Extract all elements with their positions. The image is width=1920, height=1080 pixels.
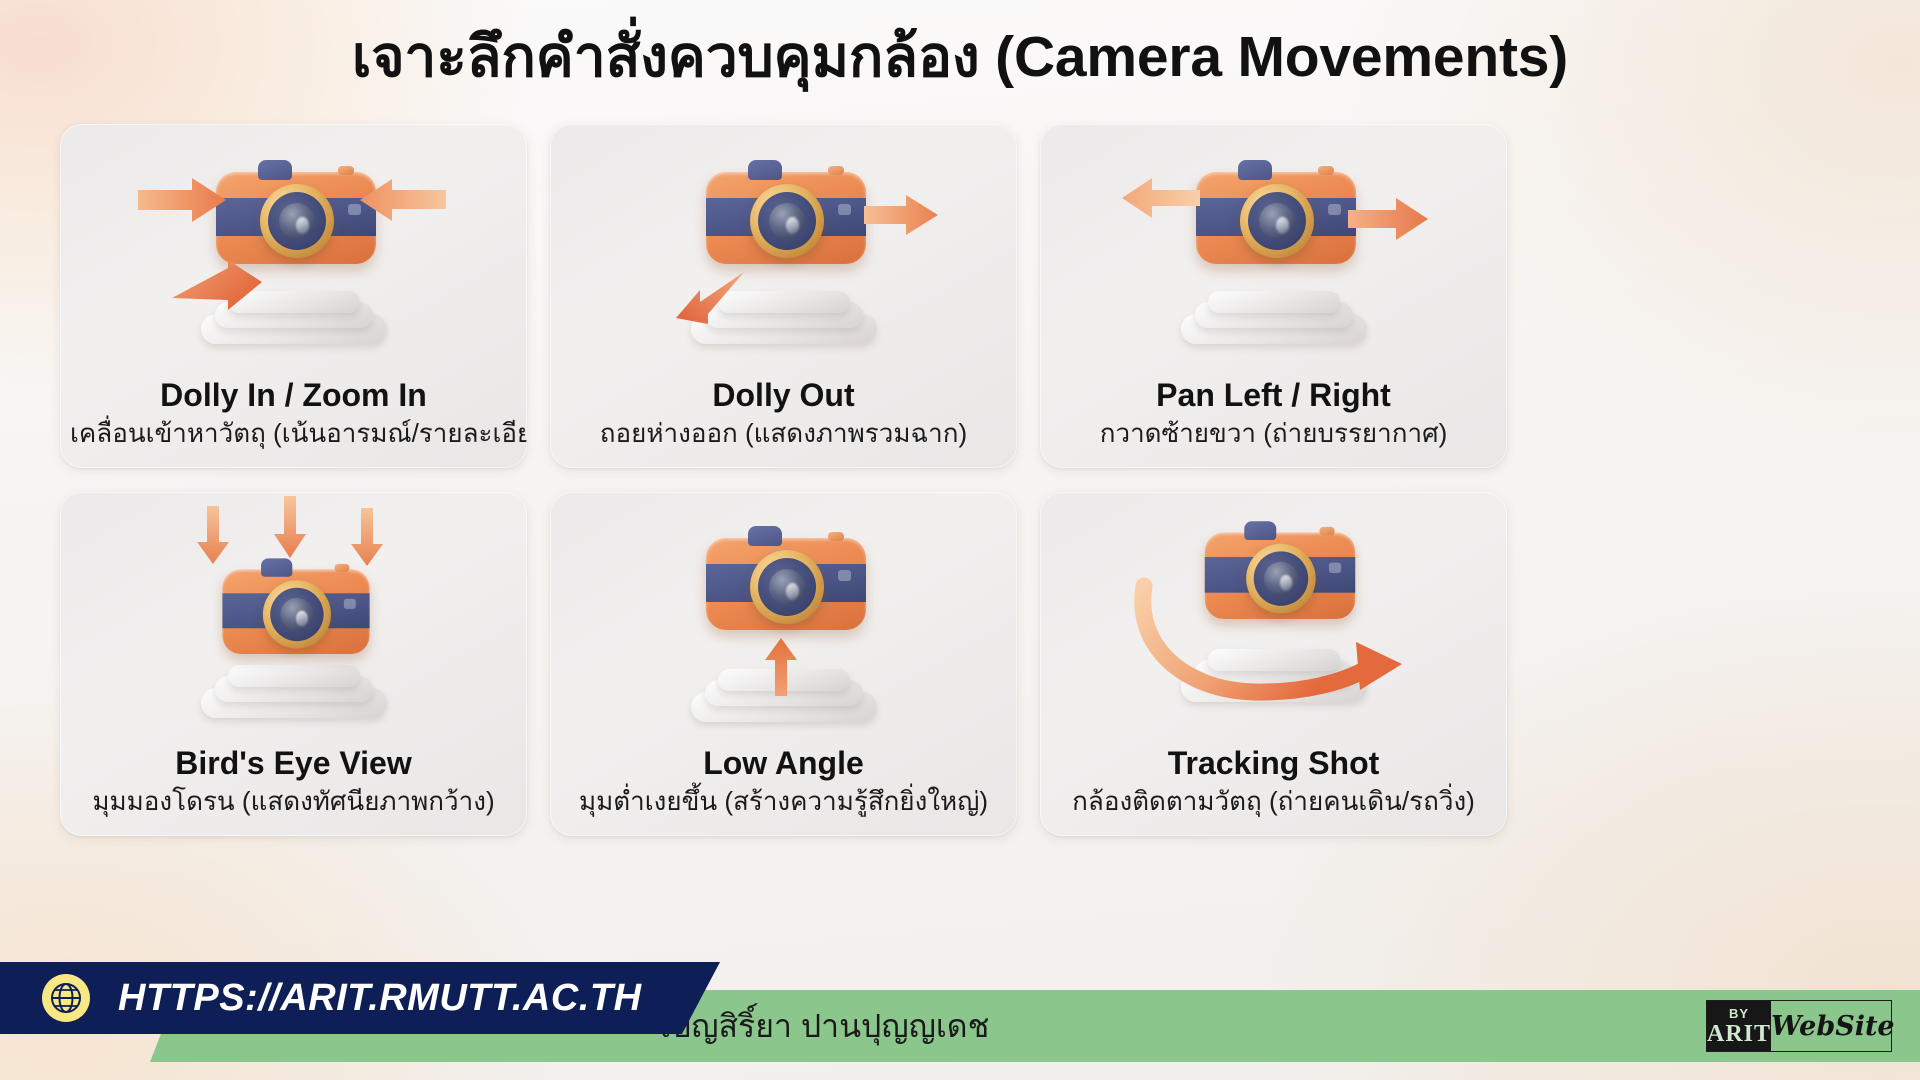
footer-bar: เบญสิริ์ยา ปานปุญญเดช HTTPS://ARIT.RMUTT… — [0, 962, 1920, 1080]
camera-with-left-right-arrows-illustration — [1040, 124, 1507, 356]
card-dolly-in[interactable]: Dolly In / Zoom In เคลื่อนเข้าหาวัตถุ (เ… — [60, 124, 527, 468]
card-text-block: Dolly In / Zoom In เคลื่อนเข้าหาวัตถุ (เ… — [70, 377, 517, 450]
camera-movement-grid: Dolly In / Zoom In เคลื่อนเข้าหาวัตถุ (เ… — [60, 124, 1520, 964]
card-text-block: Tracking Shot กล้องติดตามวัตถุ (ถ่ายคนเด… — [1050, 745, 1497, 818]
arrow-down-center-icon — [272, 494, 308, 560]
card-subtitle: มุมมองโดรน (แสดงทัศนียภาพกว้าง) — [70, 786, 517, 818]
logo-arit-block: BY ARIT — [1707, 1001, 1771, 1051]
title-container: เจาะลึกคำสั่งควบคุมกล้อง (Camera Movemen… — [0, 26, 1920, 90]
arrow-inward-left-icon — [136, 174, 228, 226]
camera-with-upward-arrow-illustration — [550, 492, 1017, 724]
camera-with-downward-arrows-illustration — [60, 492, 527, 724]
card-text-block: Pan Left / Right กวาดซ้ายขวา (ถ่ายบรรยาก… — [1050, 377, 1497, 450]
slide-canvas: เจาะลึกคำสั่งควบคุมกล้อง (Camera Movemen… — [0, 0, 1920, 1080]
camera-with-outward-arrows-illustration — [550, 124, 1017, 356]
camera-body — [706, 524, 866, 636]
card-title: Bird's Eye View — [70, 745, 517, 783]
arrow-pan-left-icon — [1120, 174, 1202, 222]
page-title: เจาะลึกคำสั่งควบคุมกล้อง (Camera Movemen… — [0, 26, 1920, 90]
pedestal — [1181, 292, 1367, 344]
website-navy-band[interactable]: HTTPS://ARIT.RMUTT.AC.TH — [0, 962, 720, 1034]
arrow-down-right-icon — [350, 506, 384, 568]
card-subtitle: กวาดซ้ายขวา (ถ่ายบรรยากาศ) — [1050, 418, 1497, 450]
arrow-inward-right-icon — [358, 176, 448, 224]
card-subtitle: เคลื่อนเข้าหาวัตถุ (เน้นอารมณ์/รายละเอีย… — [70, 418, 517, 450]
card-text-block: Bird's Eye View มุมมองโดรน (แสดงทัศนียภา… — [70, 745, 517, 818]
camera-with-inward-arrows-illustration — [60, 124, 527, 356]
card-subtitle: กล้องติดตามวัตถุ (ถ่ายคนเดิน/รถวิ่ง) — [1050, 786, 1497, 818]
card-subtitle: ถอยห่างออก (แสดงภาพรวมฉาก) — [560, 418, 1007, 450]
author-name: เบญสิริ์ยา ปานปุญญเดช — [660, 990, 989, 1062]
card-title: Pan Left / Right — [1050, 377, 1497, 415]
card-tracking-shot[interactable]: Tracking Shot กล้องติดตามวัตถุ (ถ่ายคนเด… — [1040, 492, 1507, 836]
arrow-down-left-icon — [196, 504, 230, 566]
arrow-curved-tracking-icon — [1130, 564, 1420, 714]
globe-icon — [42, 974, 90, 1022]
camera-body — [222, 556, 369, 659]
card-title: Tracking Shot — [1050, 745, 1497, 783]
card-low-angle[interactable]: Low Angle มุมต่ำเงยขึ้น (สร้างความรู้สึก… — [550, 492, 1017, 836]
card-title: Dolly Out — [560, 377, 1007, 415]
arrow-outward-left-icon — [674, 266, 748, 326]
website-url[interactable]: HTTPS://ARIT.RMUTT.AC.TH — [118, 977, 642, 1020]
camera-with-curved-arrow-illustration — [1040, 492, 1507, 724]
arrow-outward-right-icon — [862, 192, 940, 238]
card-text-block: Dolly Out ถอยห่างออก (แสดงภาพรวมฉาก) — [560, 377, 1007, 450]
card-subtitle: มุมต่ำเงยขึ้น (สร้างความรู้สึกยิ่งใหญ่) — [560, 786, 1007, 818]
arrow-inward-bottom-icon — [168, 258, 264, 314]
logo-arit-text: ARIT — [1707, 1022, 1771, 1046]
arrow-up-icon — [764, 636, 798, 698]
arrow-pan-right-icon — [1346, 194, 1430, 244]
card-pan-left-right[interactable]: Pan Left / Right กวาดซ้ายขวา (ถ่ายบรรยาก… — [1040, 124, 1507, 468]
camera-body — [1196, 158, 1356, 270]
logo-website-text: WebSite — [1771, 1001, 1895, 1051]
card-birds-eye-view[interactable]: Bird's Eye View มุมมองโดรน (แสดงทัศนียภา… — [60, 492, 527, 836]
logo-by-text: BY — [1729, 1007, 1749, 1020]
card-title: Dolly In / Zoom In — [70, 377, 517, 415]
card-text-block: Low Angle มุมต่ำเงยขึ้น (สร้างความรู้สึก… — [560, 745, 1007, 818]
camera-body — [706, 158, 866, 270]
card-title: Low Angle — [560, 745, 1007, 783]
card-dolly-out[interactable]: Dolly Out ถอยห่างออก (แสดงภาพรวมฉาก) — [550, 124, 1017, 468]
pedestal — [201, 666, 387, 718]
camera-body — [216, 158, 376, 270]
arit-website-logo: BY ARIT WebSite — [1706, 1000, 1892, 1052]
